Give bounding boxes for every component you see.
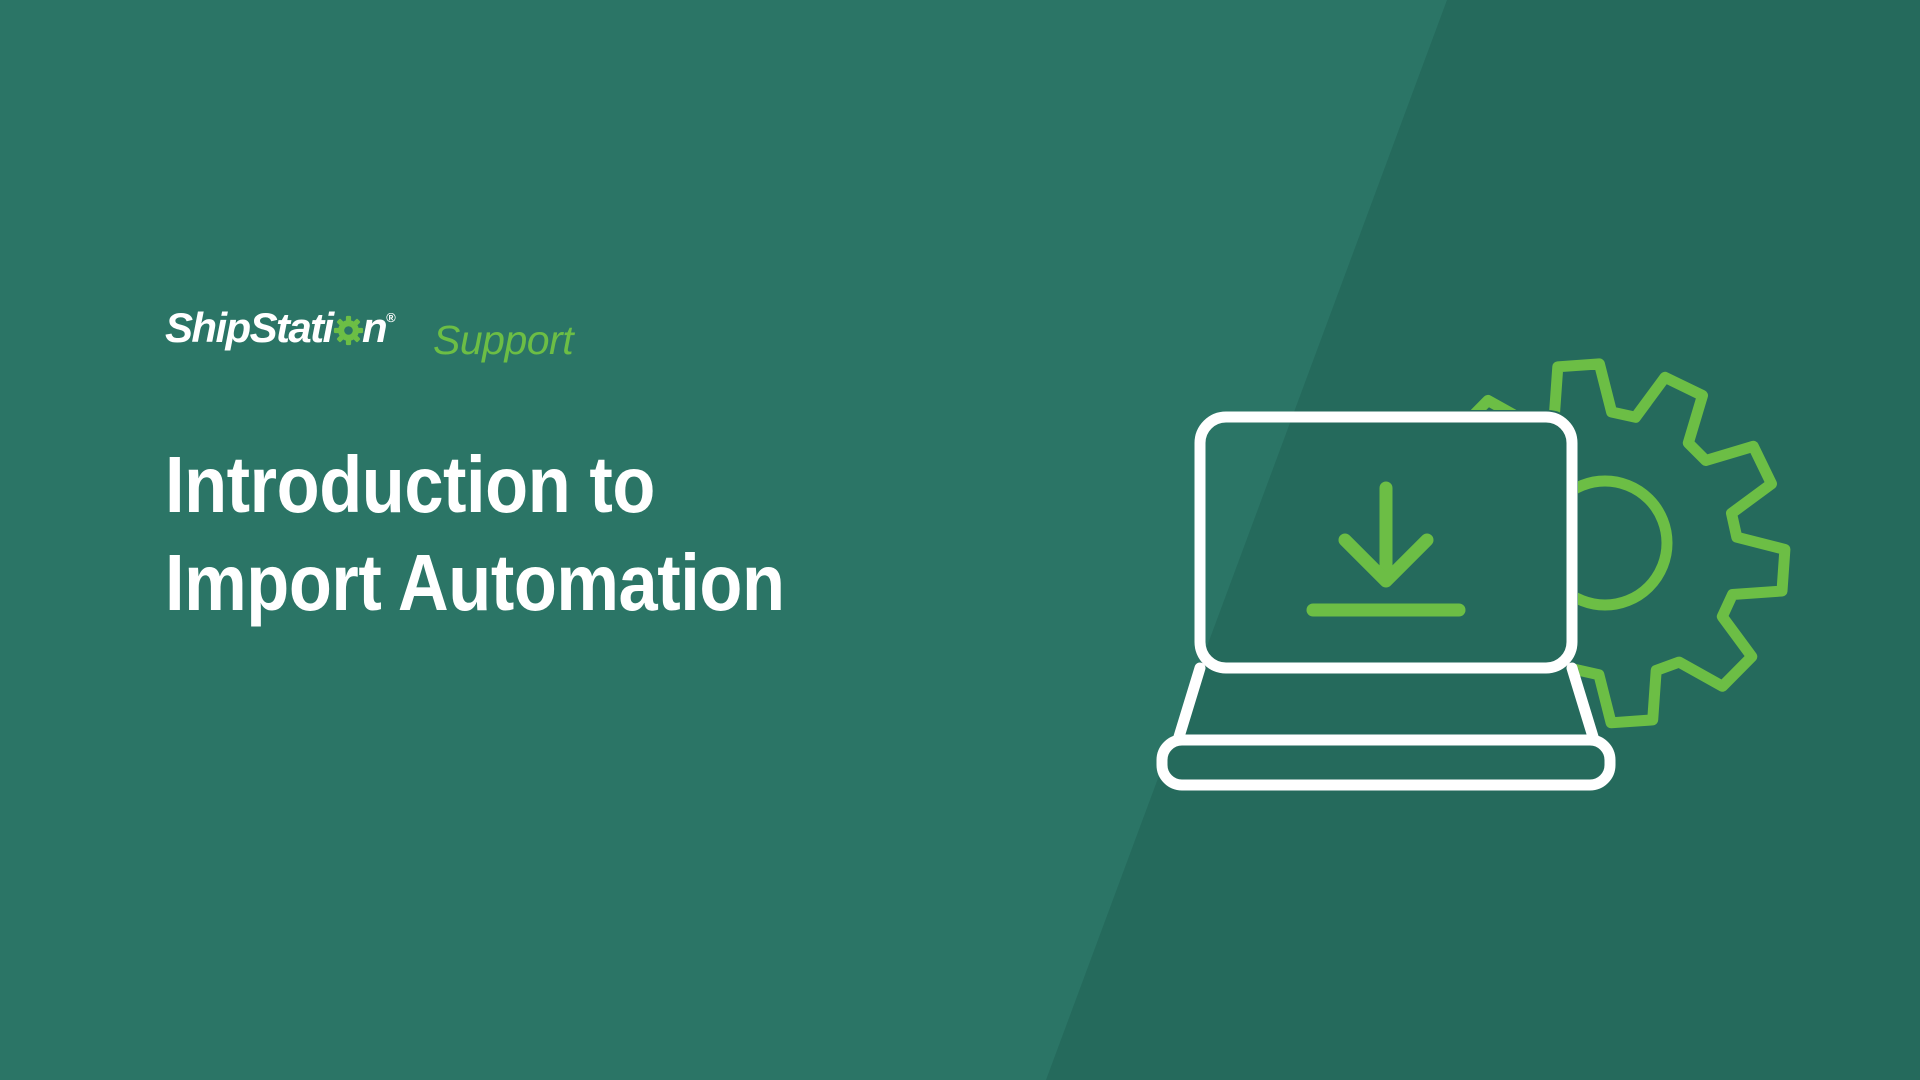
shipstation-wordmark: ShipStati [165,300,415,358]
support-label: Support [433,320,573,361]
download-arrow-icon [1313,488,1459,610]
import-automation-illustration [1130,200,1850,840]
registered-trademark-mark: ® [386,310,396,325]
logo-gear-icon [334,316,363,345]
svg-text:n: n [362,304,386,351]
text-column: ShipStati [165,300,1065,631]
page-title: Introduction to Import Automation [165,436,957,631]
laptop-icon [1162,417,1610,785]
slide-canvas: ShipStati [0,0,1920,1080]
shipstation-support-logo[interactable]: ShipStati [165,300,1065,362]
svg-text:ShipStati: ShipStati [165,304,336,351]
